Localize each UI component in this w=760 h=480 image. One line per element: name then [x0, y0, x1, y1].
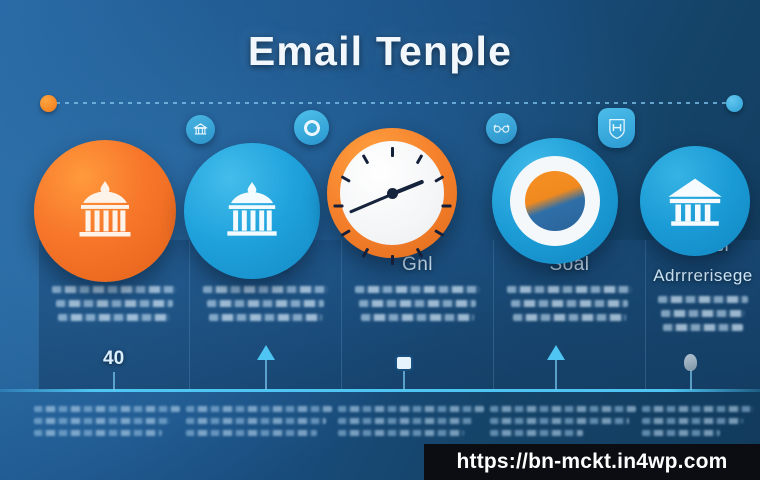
clock-center-pin [387, 188, 398, 199]
footer-col-1 [34, 406, 180, 442]
panel-5[interactable]: CAlesI Adrrrerisege [646, 240, 760, 390]
marker-stem-4 [555, 360, 557, 390]
bank-building-icon [184, 143, 320, 279]
body-line [207, 300, 325, 307]
footer-line [338, 418, 472, 424]
ring-glyph [304, 120, 320, 136]
arrow-up-icon [547, 345, 565, 360]
footer-line [34, 430, 162, 436]
infographic-canvas: Email Tenple Ine Ti [0, 0, 760, 480]
analog-clock-icon [340, 141, 444, 245]
body-line [355, 286, 481, 293]
arrow-up-icon [257, 345, 275, 360]
footer-line [34, 406, 180, 412]
footer-line [186, 418, 326, 424]
marker-stem-2 [265, 360, 267, 390]
body-line [507, 286, 633, 293]
body-line [663, 324, 744, 331]
column-4-icon-circle[interactable] [492, 138, 618, 264]
footer-line [642, 406, 754, 412]
body-line [359, 300, 477, 307]
footer-line [338, 406, 484, 412]
column-2-icon-circle[interactable] [184, 143, 320, 279]
footer-line [186, 406, 332, 412]
footer-line [490, 430, 583, 436]
temple-building-icon [640, 146, 750, 256]
footer-col-5 [642, 406, 754, 442]
timeline-end-dot [726, 95, 743, 112]
footer-line [642, 430, 720, 436]
bank-building-icon [34, 140, 176, 282]
page-title: Email Tenple [0, 28, 760, 75]
panel-1-body [39, 286, 189, 321]
building-badge-icon[interactable] [186, 115, 215, 144]
panel-4-body [494, 286, 645, 321]
body-line [361, 314, 474, 321]
footer-line [490, 406, 636, 412]
panel-3[interactable]: Gnl [342, 240, 494, 390]
timeline-start-dot [40, 95, 57, 112]
marker-stem-5 [690, 370, 692, 390]
column-5-icon-circle[interactable] [640, 146, 750, 256]
marker-label-1: 40 [103, 348, 124, 370]
body-line [58, 314, 170, 321]
url-watermark: https://bn-mckt.in4wp.com [424, 444, 760, 480]
panel-3-body [342, 286, 493, 321]
ring-badge-icon[interactable] [294, 110, 329, 145]
body-line [661, 310, 746, 317]
footer-line [186, 430, 317, 436]
body-line [56, 300, 173, 307]
panel-5-body [646, 296, 760, 331]
footer-line [642, 418, 743, 424]
footer-line [490, 418, 629, 424]
body-line [203, 286, 329, 293]
body-line [658, 296, 748, 303]
pin-blob-icon [684, 354, 697, 371]
panel-2-body [190, 286, 341, 321]
clock-minute-hand [349, 193, 392, 214]
timeline-connector [56, 102, 728, 104]
shield-monogram-badge-icon[interactable] [598, 108, 635, 148]
footer-line [338, 430, 464, 436]
yin-yang-target-icon [525, 171, 585, 231]
footer-col-3 [338, 406, 484, 442]
body-line [52, 286, 177, 293]
panel-5-subheading: Adrrrerisege [646, 266, 760, 286]
footer-col-4 [490, 406, 636, 442]
marker-stem-3 [403, 370, 405, 390]
mail-icon [395, 355, 413, 371]
footer-line [34, 418, 171, 424]
panel-4[interactable]: Soal [494, 240, 646, 390]
body-line [511, 300, 629, 307]
body-line [209, 314, 322, 321]
column-3-icon-circle[interactable] [327, 128, 457, 258]
glasses-badge-icon[interactable] [486, 113, 517, 144]
column-1-icon-circle[interactable] [34, 140, 176, 282]
footer-col-2 [186, 406, 332, 442]
marker-stem-1 [113, 372, 115, 391]
body-line [513, 314, 626, 321]
panel-3-heading: Gnl [342, 254, 493, 276]
